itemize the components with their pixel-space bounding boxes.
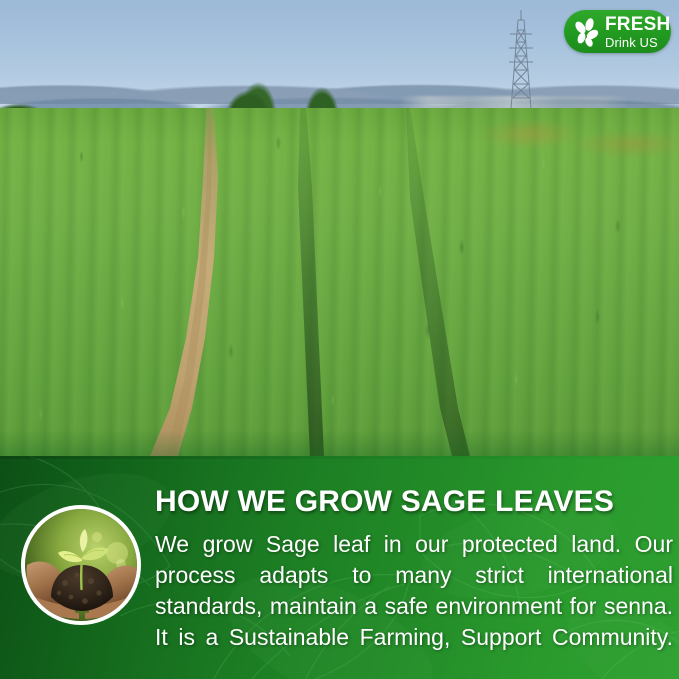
banner-headline: HOW WE GROW SAGE LEAVES xyxy=(155,486,671,518)
dirt-path xyxy=(0,108,679,456)
field-photo: FRESH Drink US xyxy=(0,0,679,456)
photo-bottom-fade xyxy=(0,430,679,456)
seedling-circle-image xyxy=(21,505,141,625)
brand-wordmark: FRESH Drink US xyxy=(605,15,670,49)
brand-badge[interactable]: FRESH Drink US xyxy=(564,10,671,53)
banner-body-text: We grow Sage leaf in our protected land.… xyxy=(155,529,673,679)
banner-top-edge xyxy=(0,456,679,459)
brand-name-line2: Drink US xyxy=(605,36,670,49)
seedling-photo xyxy=(25,509,137,621)
product-infographic: FRESH Drink US xyxy=(0,0,679,679)
leaf-cluster-icon xyxy=(570,15,604,49)
brand-name-line1: FRESH xyxy=(605,15,670,34)
